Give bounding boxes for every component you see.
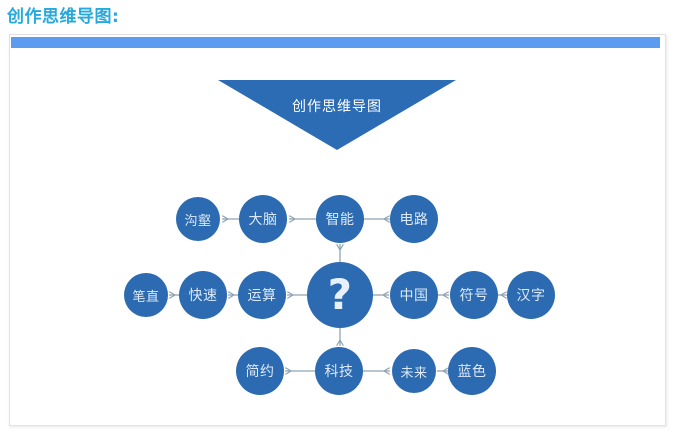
node-yunsuan[interactable]: 运算	[238, 271, 286, 319]
accent-bar	[11, 37, 660, 48]
node-gouhe[interactable]: 沟壑	[176, 197, 220, 241]
page-title: 创作思维导图:	[7, 2, 119, 27]
node-zhineng[interactable]: 智能	[316, 195, 364, 243]
node-lanse[interactable]: 蓝色	[448, 347, 496, 395]
node-hanzi[interactable]: 汉字	[507, 271, 555, 319]
screenshot-root: 创作思维导图:	[0, 0, 673, 440]
node-jianyue[interactable]: 简约	[236, 347, 284, 395]
banner-triangle: 创作思维导图	[218, 80, 456, 150]
node-bizhi[interactable]: 笔直	[124, 273, 168, 317]
node-weilai[interactable]: 未来	[392, 349, 436, 393]
node-keji[interactable]: 科技	[315, 347, 363, 395]
node-fuhao[interactable]: 符号	[450, 271, 498, 319]
node-kuaisu[interactable]: 快速	[179, 271, 227, 319]
banner-label: 创作思维导图	[218, 96, 456, 116]
node-zhongguo[interactable]: 中国	[390, 271, 438, 319]
node-dianlu[interactable]: 电路	[390, 195, 438, 243]
node-danao[interactable]: 大脑	[239, 195, 287, 243]
node-center-question[interactable]: ?	[307, 262, 373, 328]
